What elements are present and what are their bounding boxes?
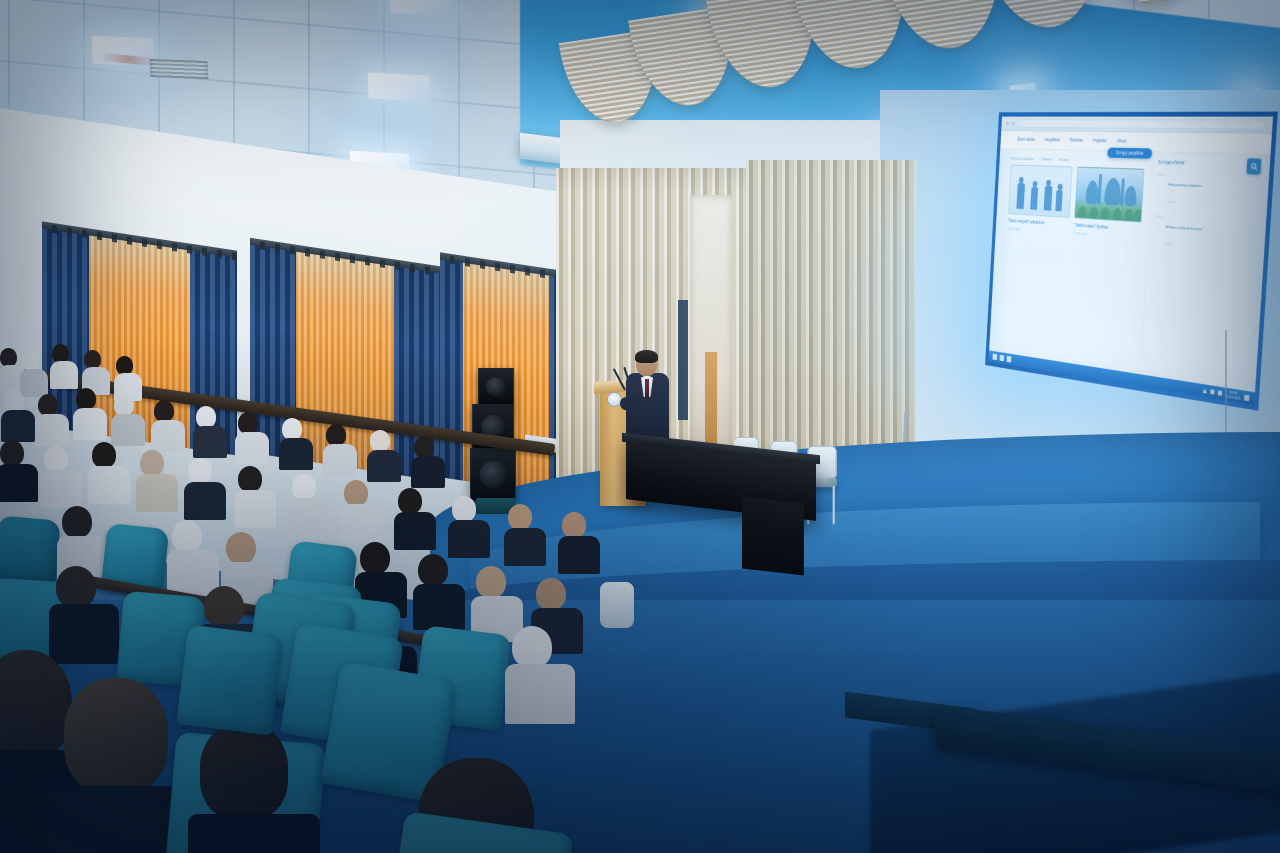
audience-person — [114, 394, 144, 446]
person-head — [536, 578, 566, 610]
browser-taskbar-icon[interactable] — [999, 355, 1004, 362]
person-torso — [448, 520, 490, 558]
search-icon[interactable] — [1246, 158, 1261, 174]
person-head — [196, 406, 216, 428]
valance-swag — [1074, 0, 1222, 13]
feed-tab[interactable]: Barcha yangiliklar — [1011, 156, 1034, 161]
person-torso — [1, 410, 35, 442]
person-head — [344, 480, 368, 506]
browser-dot-icon — [1006, 122, 1009, 125]
person-head — [0, 650, 72, 758]
person-torso — [367, 450, 401, 482]
audience-person — [508, 504, 544, 566]
news-card[interactable]: "Yashil makon" loyihasi 11.03.2025 — [1073, 167, 1144, 241]
audience-person — [76, 388, 106, 440]
audience-seat — [0, 515, 61, 584]
person-torso — [323, 444, 357, 476]
start-icon[interactable] — [992, 354, 997, 361]
volume-icon[interactable] — [1218, 390, 1223, 396]
person-head-white-scarf — [172, 520, 202, 552]
person-head-white-scarf — [188, 458, 212, 484]
folder-taskbar-icon[interactable] — [1006, 356, 1011, 363]
person-head — [200, 722, 288, 820]
nav-item[interactable]: Tadbirlar — [1069, 138, 1083, 144]
nav-item[interactable]: Yangiliklar — [1044, 138, 1060, 144]
folding-chair-back — [600, 582, 634, 628]
valance-swag — [973, 0, 1115, 36]
nav-item[interactable]: Bosh sahifa — [1017, 137, 1035, 142]
person-head — [476, 566, 506, 598]
person-head — [62, 506, 92, 538]
person-torso — [411, 456, 445, 488]
audience-person — [188, 458, 224, 520]
person-torso — [73, 408, 107, 440]
hot-news-badge: So'nggi yangiliklar — [1107, 148, 1152, 159]
person-head — [418, 554, 448, 586]
news-card[interactable]: "Ustoz-shogird" uchrashuvi 12.03.2025 — [1007, 165, 1072, 235]
person-head-white-scarf — [292, 474, 316, 500]
network-icon[interactable] — [1210, 389, 1214, 394]
notifications-icon[interactable] — [1244, 394, 1250, 401]
screen-frame: Bosh sahifa Yangiliklar Tadbirlar Hujjat… — [985, 112, 1278, 411]
chair-leg — [833, 486, 835, 524]
audience-person — [238, 466, 274, 528]
audience-person — [52, 344, 78, 388]
audience-person — [140, 450, 176, 512]
person-torso — [234, 490, 276, 528]
person-torso — [558, 536, 600, 574]
person-torso — [188, 814, 320, 853]
browser-window[interactable]: Bosh sahifa Yangiliklar Tadbirlar Hujjat… — [989, 117, 1274, 406]
air-vent — [150, 59, 209, 79]
person-torso — [151, 420, 185, 452]
person-torso — [279, 438, 313, 470]
person-torso — [35, 414, 69, 446]
person-head — [204, 586, 244, 628]
person-torso — [193, 426, 227, 458]
person-torso — [88, 466, 130, 504]
audience-person — [282, 418, 312, 470]
announcement-date: 10.03 — [1155, 215, 1163, 219]
person-torso — [184, 482, 226, 520]
nav-item[interactable]: Hujjatlar — [1093, 138, 1107, 144]
announcement-more-link[interactable]: Batafsil — [1164, 242, 1173, 246]
address-bar[interactable] — [1018, 119, 1267, 129]
site-content: Barcha yangiliklar Tadbirlar E'lonlar So… — [989, 149, 1270, 392]
person-head — [140, 450, 164, 476]
audience-person — [92, 442, 128, 504]
announcements-sidebar: So'nggi e'lonlar 12.03 Ilmiy-amaliy anju… — [1140, 160, 1258, 391]
person-head — [326, 424, 346, 446]
person-head-white-scarf — [452, 496, 476, 522]
person-torso — [288, 498, 330, 536]
feed-tab[interactable]: Tadbirlar — [1041, 157, 1053, 162]
announcement-more-link[interactable]: Batafsil — [1167, 200, 1176, 204]
person-head — [64, 678, 168, 794]
audience-person — [344, 480, 380, 542]
audience-person — [414, 436, 444, 488]
news-feed: Barcha yangiliklar Tadbirlar E'lonlar So… — [1001, 156, 1146, 373]
person-torso — [340, 504, 382, 542]
audience-seat — [176, 625, 283, 736]
person-head — [360, 542, 390, 574]
person-head — [92, 442, 116, 468]
chevron-up-icon[interactable] — [1203, 388, 1207, 393]
news-card-list: "Ustoz-shogird" uchrashuvi 12.03.2025 — [1007, 165, 1144, 241]
person-torso — [504, 528, 546, 566]
person-head — [0, 440, 24, 466]
announcement-date: 12.03 — [1157, 173, 1165, 177]
photo-scene: Bosh sahifa Yangiliklar Tadbirlar Hujjat… — [0, 0, 1280, 853]
audience-person — [398, 488, 434, 550]
audience-person — [154, 400, 184, 452]
person-head — [562, 512, 586, 538]
person-torso — [505, 664, 575, 724]
announcement-item[interactable]: 10.03 Malaka oshirish kurslari Batafsil — [1153, 215, 1254, 257]
audience-person — [238, 412, 268, 464]
person-torso — [136, 474, 178, 512]
person-head — [114, 394, 134, 416]
person-head — [238, 466, 262, 492]
audience-section — [0, 330, 760, 853]
sidebar-heading: So'nggi e'lonlar — [1158, 160, 1258, 169]
audience-person — [292, 474, 328, 536]
person-torso — [413, 584, 465, 630]
browser-dot-icon — [1012, 122, 1015, 125]
person-head — [154, 400, 174, 422]
person-head — [414, 436, 434, 458]
ceiling-light-panel — [368, 72, 431, 102]
person-head — [282, 418, 302, 440]
nav-item[interactable]: Aloqa — [1117, 139, 1127, 145]
audience-person — [418, 554, 462, 628]
person-head — [38, 394, 58, 416]
person-head — [76, 388, 96, 410]
person-head — [370, 430, 390, 452]
projection-screen: Bosh sahifa Yangiliklar Tadbirlar Hujjat… — [985, 112, 1278, 411]
person-torso — [40, 470, 82, 508]
taskbar-apps[interactable] — [992, 354, 1011, 363]
person-torso — [0, 464, 38, 502]
person-head — [226, 532, 256, 564]
audience-person — [512, 626, 570, 722]
person-head — [508, 504, 532, 530]
person-head — [56, 566, 96, 608]
audience-person — [172, 520, 216, 594]
audience-person — [196, 406, 226, 458]
announcement-text[interactable]: Ilmiy-amaliy anjuman — [1168, 182, 1202, 188]
person-torso — [235, 432, 269, 464]
valance-swag — [878, 0, 1013, 57]
person-head-white-scarf — [44, 446, 68, 472]
audience-person — [452, 496, 488, 558]
person-torso — [50, 361, 78, 389]
audience-person — [56, 566, 114, 662]
audience-person — [370, 430, 400, 482]
news-card-image — [1008, 165, 1072, 218]
audience-person — [200, 722, 310, 853]
person-head — [4, 390, 24, 412]
news-card-image — [1074, 167, 1144, 223]
audience-person — [44, 446, 80, 508]
person-head — [398, 488, 422, 514]
audience-person — [326, 424, 356, 476]
audience-person — [562, 512, 598, 574]
audience-person — [0, 440, 36, 502]
clock-date: 12.03.2025 — [1225, 394, 1241, 400]
audience-person — [38, 394, 68, 446]
feed-tab[interactable]: E'lonlar — [1059, 157, 1069, 162]
audience-person — [4, 390, 34, 442]
person-head — [238, 412, 258, 434]
taskbar-clock[interactable]: 13:48 12.03.2025 — [1225, 390, 1241, 401]
announcement-item[interactable]: 12.03 Ilmiy-amaliy anjuman Batafsil — [1155, 173, 1256, 212]
person-head-white-scarf — [512, 626, 552, 668]
announcement-text[interactable]: Malaka oshirish kurslari — [1165, 224, 1202, 231]
